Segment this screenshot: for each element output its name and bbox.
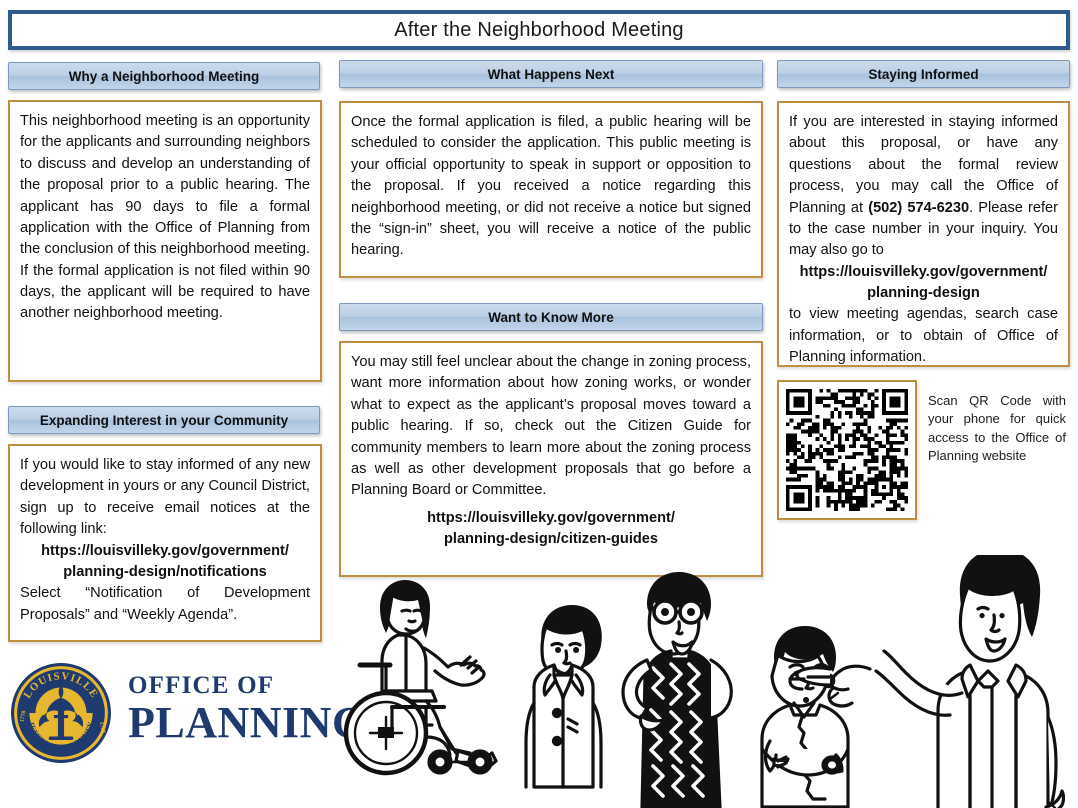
section-header-expanding-interest: Expanding Interest in your Community xyxy=(8,406,320,434)
people-illustration xyxy=(340,555,1078,808)
why-body-text: This neighborhood meeting is an opportun… xyxy=(20,111,310,325)
figure-older-woman xyxy=(526,605,602,787)
expanding-body-text-1: If you would like to stay informed of an… xyxy=(20,455,310,541)
louisville-jefferson-county-seal-icon: LOUISVILLE JEFFERSON COUNTY 1778 1780 xyxy=(10,662,112,764)
figure-man-with-crossed-arms xyxy=(762,626,848,807)
staying-body-text-1: If you are interested in staying informe… xyxy=(789,112,1058,262)
citizen-guide-link-line-2[interactable]: planning-design/citizen-guides xyxy=(351,529,751,550)
notifications-link-line-1[interactable]: https://louisvilleky.gov/government/ xyxy=(20,541,310,562)
notifications-link-line-2[interactable]: planning-design/notifications xyxy=(20,562,310,583)
figure-woman-in-wheelchair xyxy=(346,580,496,773)
section-header-label: What Happens Next xyxy=(488,67,615,82)
logo-line-1: OFFICE OF xyxy=(128,672,367,700)
section-header-staying-informed: Staying Informed xyxy=(777,60,1070,88)
expanding-body-text-2: Select “Notification of Development Prop… xyxy=(20,583,310,626)
page-title-banner: After the Neighborhood Meeting xyxy=(8,10,1070,50)
section-header-what-happens-next: What Happens Next xyxy=(339,60,763,88)
panel-why-neighborhood-meeting: This neighborhood meeting is an opportun… xyxy=(8,100,322,382)
logo-wordmark: OFFICE OF PLANNING xyxy=(128,672,367,746)
next-body-text: Once the formal application is filed, a … xyxy=(351,112,751,262)
section-header-want-to-know-more: Want to Know More xyxy=(339,303,763,331)
panel-what-happens-next: Once the formal application is filed, a … xyxy=(339,101,763,278)
poster-page: After the Neighborhood Meeting Why a Nei… xyxy=(0,0,1078,808)
section-header-why-neighborhood-meeting: Why a Neighborhood Meeting xyxy=(8,62,320,90)
logo-line-2: PLANNING xyxy=(128,701,367,746)
planning-design-link-line-1[interactable]: https://louisvilleky.gov/government/ xyxy=(789,262,1058,283)
figure-woman-with-glasses xyxy=(623,572,731,808)
more-body-text: You may still feel unclear about the cha… xyxy=(351,352,751,502)
staying-body-text-2: to view meeting agendas, search case inf… xyxy=(789,304,1058,368)
panel-staying-informed: If you are interested in staying informe… xyxy=(777,101,1070,367)
panel-want-to-know-more: You may still feel unclear about the cha… xyxy=(339,341,763,577)
section-header-label: Staying Informed xyxy=(868,67,978,82)
people-illustration-svg xyxy=(340,555,1078,808)
qr-code-icon[interactable] xyxy=(786,389,908,511)
section-header-label: Expanding Interest in your Community xyxy=(40,413,288,428)
section-header-label: Why a Neighborhood Meeting xyxy=(69,69,260,84)
qr-code-box[interactable] xyxy=(777,380,917,520)
panel-expanding-interest: If you would like to stay informed of an… xyxy=(8,444,322,642)
section-header-label: Want to Know More xyxy=(488,310,613,325)
qr-code-caption: Scan QR Code with your phone for quick a… xyxy=(928,392,1066,466)
office-of-planning-logo: LOUISVILLE JEFFERSON COUNTY 1778 1780 OF… xyxy=(10,662,350,772)
citizen-guide-link-line-1[interactable]: https://louisvilleky.gov/government/ xyxy=(351,508,751,529)
page-title: After the Neighborhood Meeting xyxy=(394,19,684,42)
office-phone-number: (502) 574-6230 xyxy=(868,200,969,216)
planning-design-link-line-2[interactable]: planning-design xyxy=(789,283,1058,304)
